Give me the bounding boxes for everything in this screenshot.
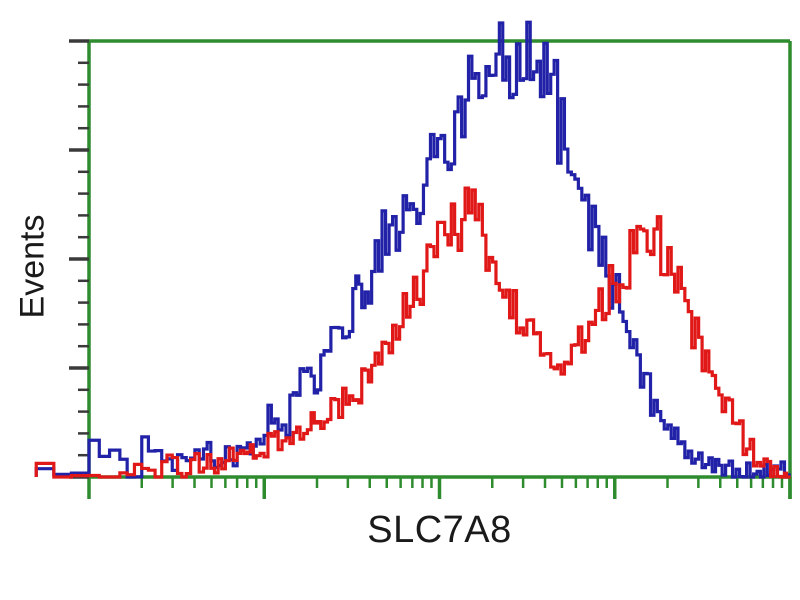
y-axis-label: Events: [0, 180, 66, 352]
y-axis-label-text: Events: [14, 214, 53, 318]
flow-cytometry-figure: Events SLC7A8: [0, 0, 800, 600]
x-axis-label: SLC7A8: [89, 505, 790, 555]
